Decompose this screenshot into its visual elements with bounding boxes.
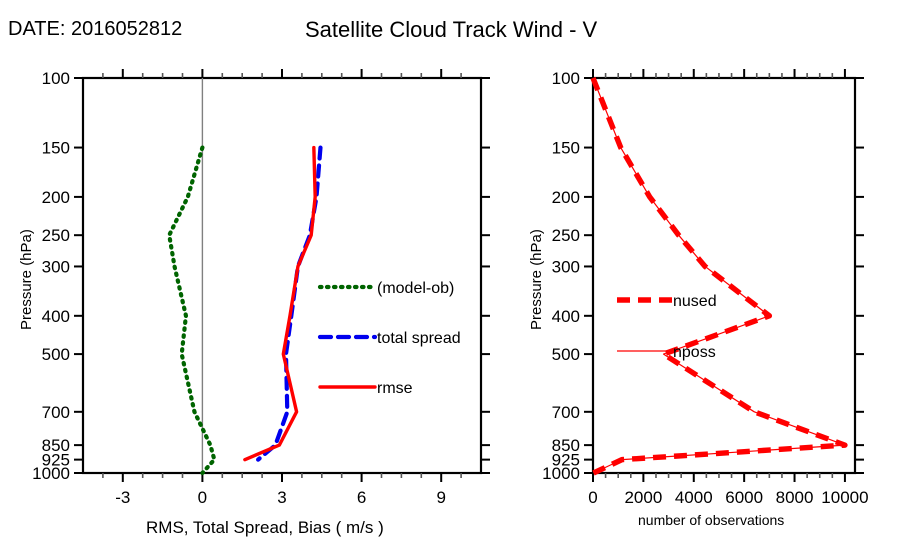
plot-area: 1001502002503004005007008509251000-30369… xyxy=(0,0,900,560)
y-tick-label: 500 xyxy=(552,345,580,364)
series-line-rmse xyxy=(245,148,315,460)
y-tick-label: 150 xyxy=(42,139,70,158)
panel-frame xyxy=(593,78,855,473)
y-tick-label: 400 xyxy=(42,307,70,326)
x-tick-label: 2000 xyxy=(624,488,662,507)
left-panel: 1001502002503004005007008509251000-30369… xyxy=(32,69,490,507)
legend-label-1: total spread xyxy=(377,330,461,347)
x-tick-label: -3 xyxy=(115,488,130,507)
series-line-total-spread xyxy=(258,148,320,460)
y-tick-label: 150 xyxy=(552,139,580,158)
x-tick-label: 6000 xyxy=(725,488,763,507)
legend-label-0: (model-ob) xyxy=(377,280,454,297)
x-tick-label: 8000 xyxy=(776,488,814,507)
x-tick-label: 0 xyxy=(588,488,597,507)
y-tick-label: 300 xyxy=(552,257,580,276)
x-tick-label: 6 xyxy=(357,488,366,507)
legend-label-2: rmse xyxy=(377,380,413,397)
y-tick-label: 200 xyxy=(552,188,580,207)
y-tick-label: 500 xyxy=(42,345,70,364)
y-tick-label: 700 xyxy=(42,403,70,422)
panel-frame xyxy=(83,78,481,473)
x-tick-label: 0 xyxy=(198,488,207,507)
series-line--model-ob- xyxy=(169,148,214,473)
right-panel: 1001502002503004005007008509251000020004… xyxy=(542,69,868,507)
series-line-nused xyxy=(593,78,845,473)
y-tick-label: 200 xyxy=(42,188,70,207)
y-tick-label: 250 xyxy=(552,226,580,245)
y-tick-label: 700 xyxy=(552,403,580,422)
y-tick-label: 250 xyxy=(42,226,70,245)
x-tick-label: 10000 xyxy=(821,488,868,507)
figure-canvas: DATE: 2016052812 Satellite Cloud Track W… xyxy=(0,0,900,560)
y-tick-label: 300 xyxy=(42,257,70,276)
x-tick-label: 4000 xyxy=(675,488,713,507)
y-tick-label: 1000 xyxy=(542,464,580,483)
y-tick-label: 1000 xyxy=(32,464,70,483)
x-tick-label: 3 xyxy=(277,488,286,507)
y-tick-label: 100 xyxy=(42,69,70,88)
y-tick-label: 100 xyxy=(552,69,580,88)
legend-label-nposs: nposs xyxy=(673,344,716,361)
y-tick-label: 400 xyxy=(552,307,580,326)
legend-label-nused: nused xyxy=(673,293,717,310)
x-tick-label: 9 xyxy=(436,488,445,507)
